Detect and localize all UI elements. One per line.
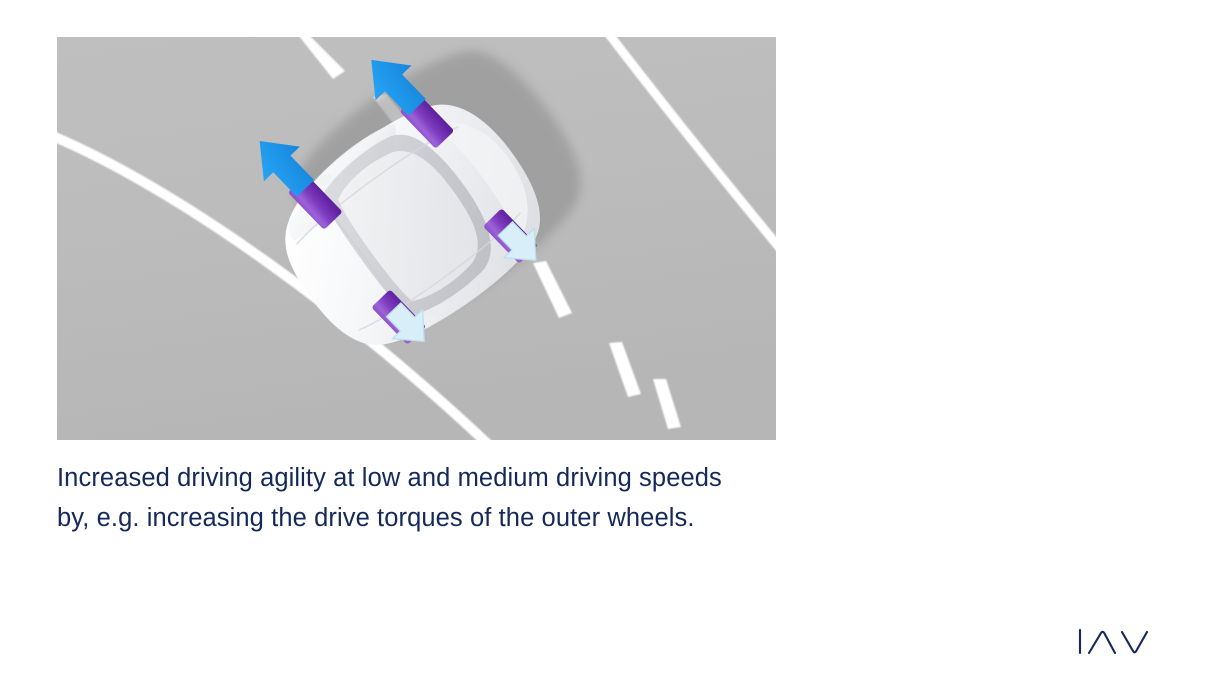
iav-logo-mark (1077, 626, 1159, 658)
torque-vectoring-illustration (57, 37, 776, 440)
iav-logo (1077, 626, 1159, 658)
slide-canvas: Increased driving agility at low and med… (0, 0, 1210, 680)
slide-caption: Increased driving agility at low and med… (57, 458, 957, 538)
road-scene-svg (57, 37, 776, 440)
